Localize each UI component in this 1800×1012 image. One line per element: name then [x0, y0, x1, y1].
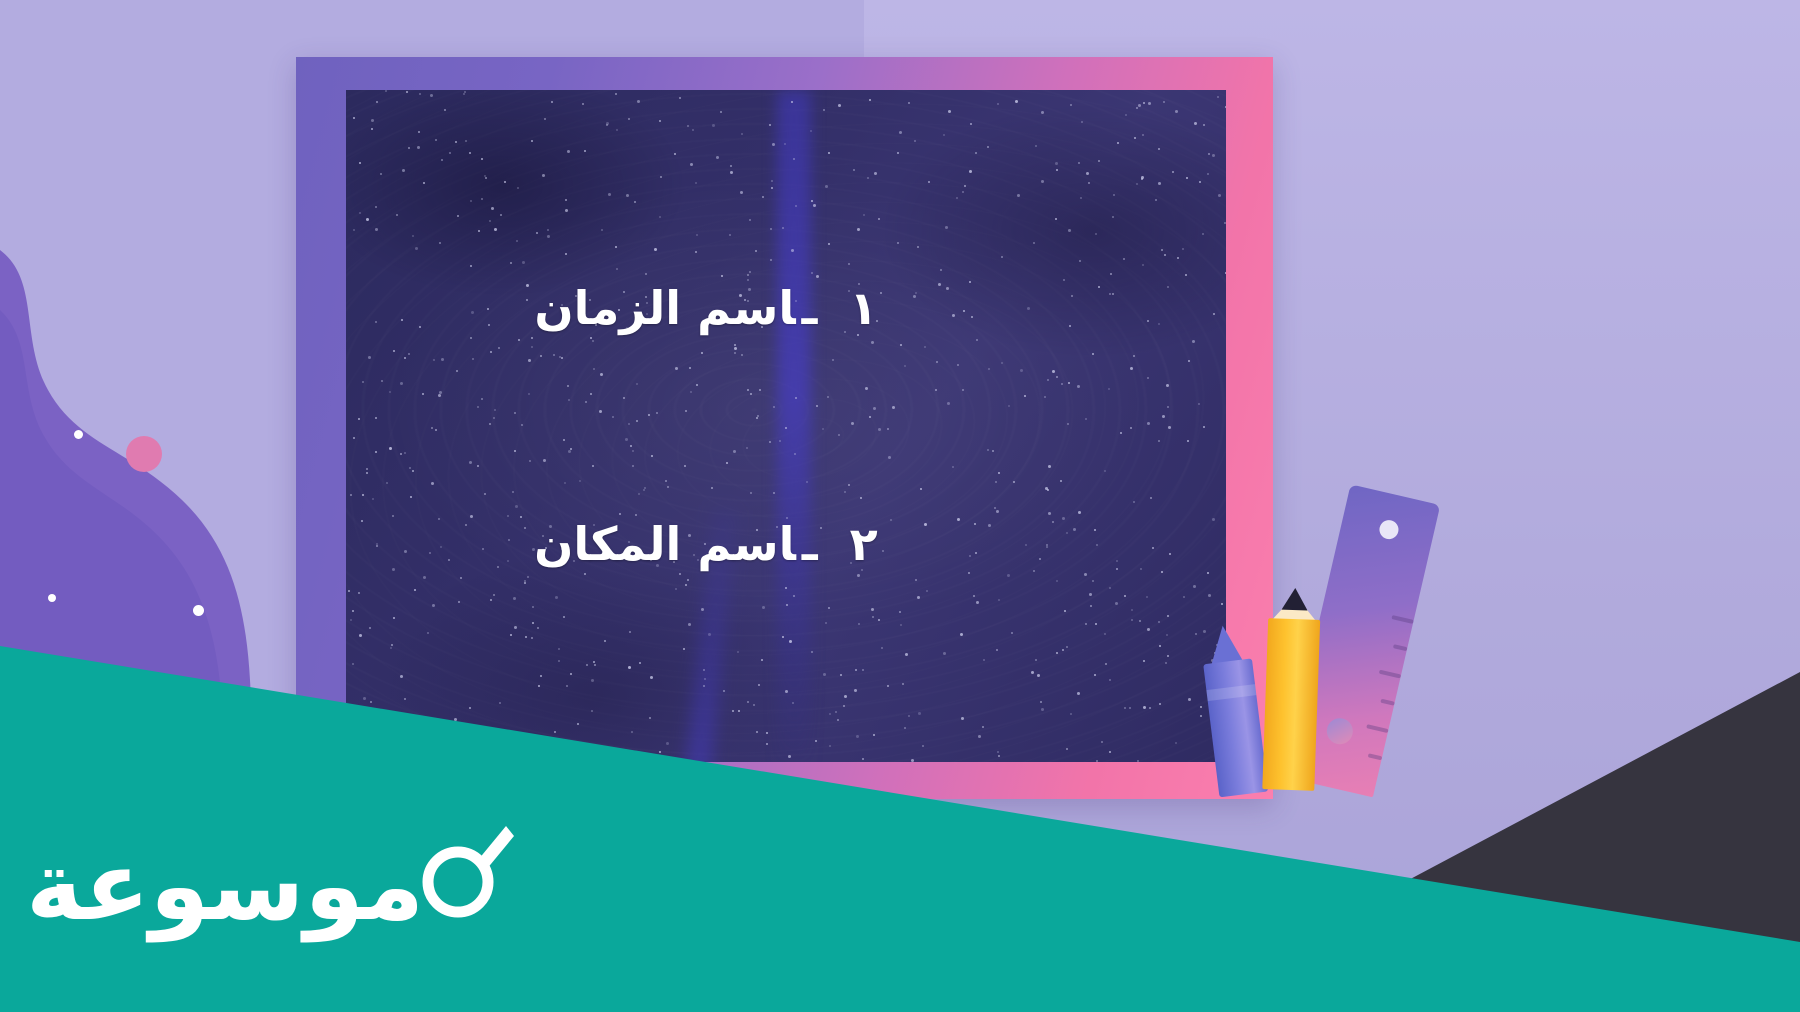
- logo-text: موسوعة: [26, 838, 424, 934]
- lesson-line-2-dash: ـ: [802, 517, 818, 571]
- pencil-tip: [1282, 588, 1309, 611]
- hill-shape: [0, 250, 330, 770]
- lesson-line-1-text: اسم الزمان: [534, 281, 795, 335]
- decor-dot-white-2: [48, 594, 56, 602]
- chalkboard-surface: ١ـاسم الزمان ٢ـاسم المكان: [346, 90, 1226, 762]
- decor-dot-white-3: [193, 605, 204, 616]
- slide-canvas: ١ـاسم الزمان ٢ـاسم المكان: [0, 0, 1800, 1012]
- decor-dot-pink-large: [126, 436, 162, 472]
- lesson-line-1-dash: ـ: [802, 281, 818, 335]
- lesson-line-1: ١ـاسم الزمان: [534, 227, 1037, 389]
- logo[interactable]: موسوعة: [26, 819, 496, 934]
- desk-surface: [1160, 632, 1800, 1012]
- board-text-block: ١ـاسم الزمان ٢ـاسم المكان: [346, 90, 1226, 762]
- decor-dot-white-1: [74, 430, 83, 439]
- ruler-tick: [1391, 615, 1413, 624]
- ruler-hole: [1378, 518, 1401, 541]
- magnifier-pen-icon: [422, 820, 514, 924]
- lesson-line-2-text: اسم المكان: [534, 517, 796, 571]
- lesson-line-2: ٢ـاسم المكان: [534, 463, 1038, 625]
- lesson-line-1-number: ١: [849, 281, 877, 335]
- lesson-line-2-number: ٢: [850, 517, 878, 571]
- chalkboard-frame: ١ـاسم الزمان ٢ـاسم المكان: [296, 57, 1273, 799]
